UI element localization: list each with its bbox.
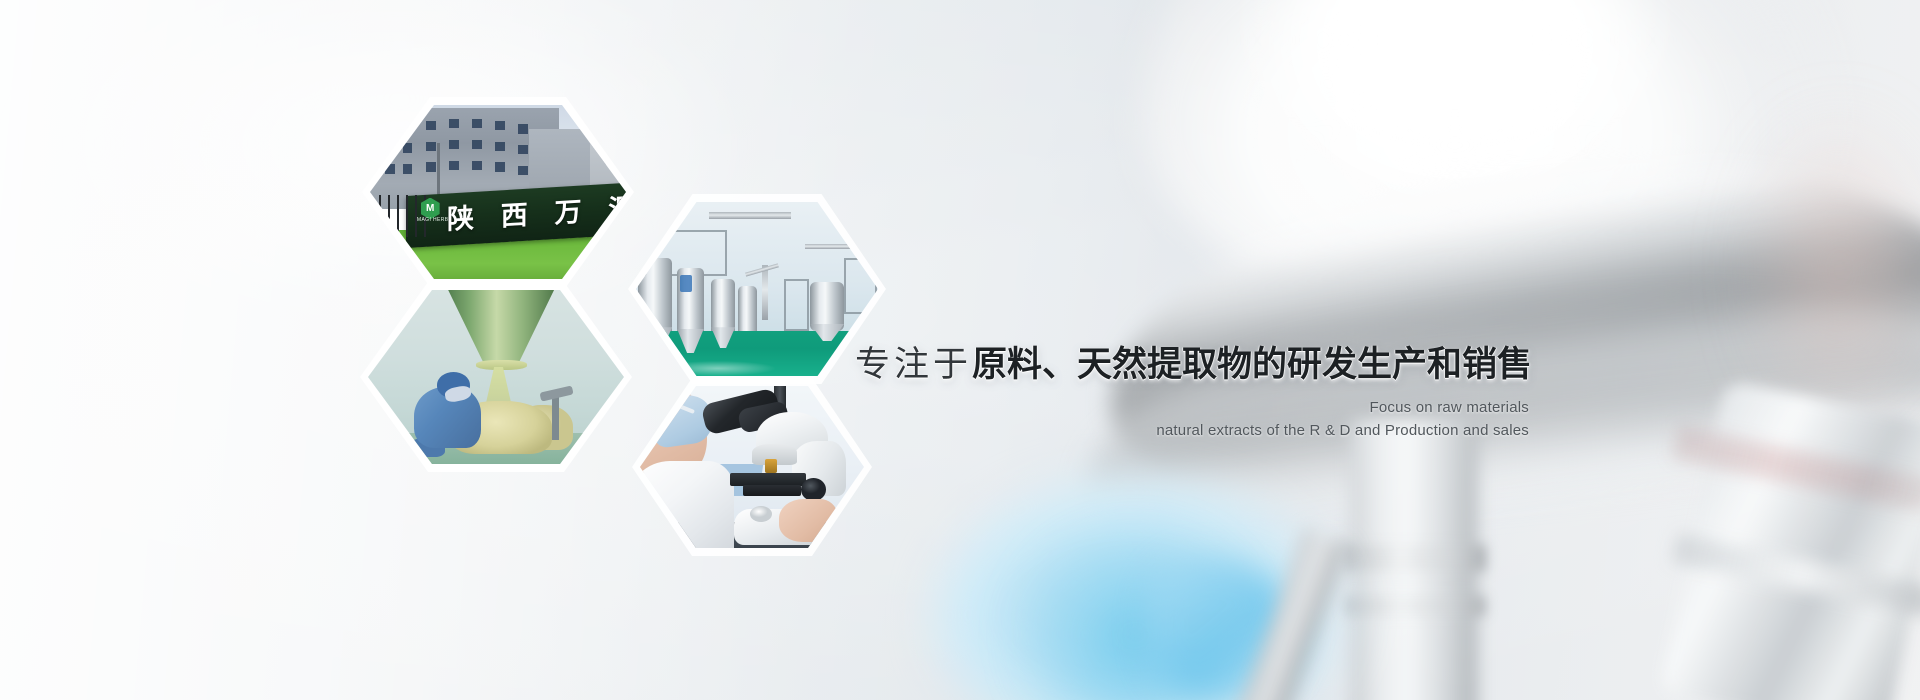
banner-headline: 专注于原料、天然提取物的研发生产和销售 [855,348,1545,383]
tank-4 [738,286,757,331]
banner-subtitle-line2: natural extracts of the R & D and Produc… [855,422,1545,439]
reactor-vessel [810,282,844,331]
blue-panel [680,275,692,292]
pipe-1 [762,265,768,321]
tank-3 [711,279,735,331]
equipment-stand [552,394,558,439]
researcher-lab-coat [640,461,734,548]
overhead-pipe [805,244,868,249]
headline-strong: 原料、天然提取物的研发生产和销售 [972,345,1532,385]
company-logo: M [420,199,440,218]
light-pole [437,143,441,195]
logo-hexagon-icon: M [421,198,440,220]
microscope-stage-lower [743,485,801,496]
banner-stage: M MAGI HERB 陕 西 万 源 [0,0,1920,700]
microscope-focus-knob [801,478,826,501]
microscope-base-control [750,506,772,522]
banner-copy: 专注于原料、天然提取物的研发生产和销售 Focus on raw materia… [855,348,1545,439]
ceiling-duct [709,212,791,219]
sign-wall-text: 陕 西 万 源 [447,190,606,234]
headline-lead: 专注于 [855,345,972,385]
rack-1 [784,279,810,332]
microscope-objective [765,459,776,474]
banner-subtitle-line1: Focus on raw materials [855,399,1545,416]
